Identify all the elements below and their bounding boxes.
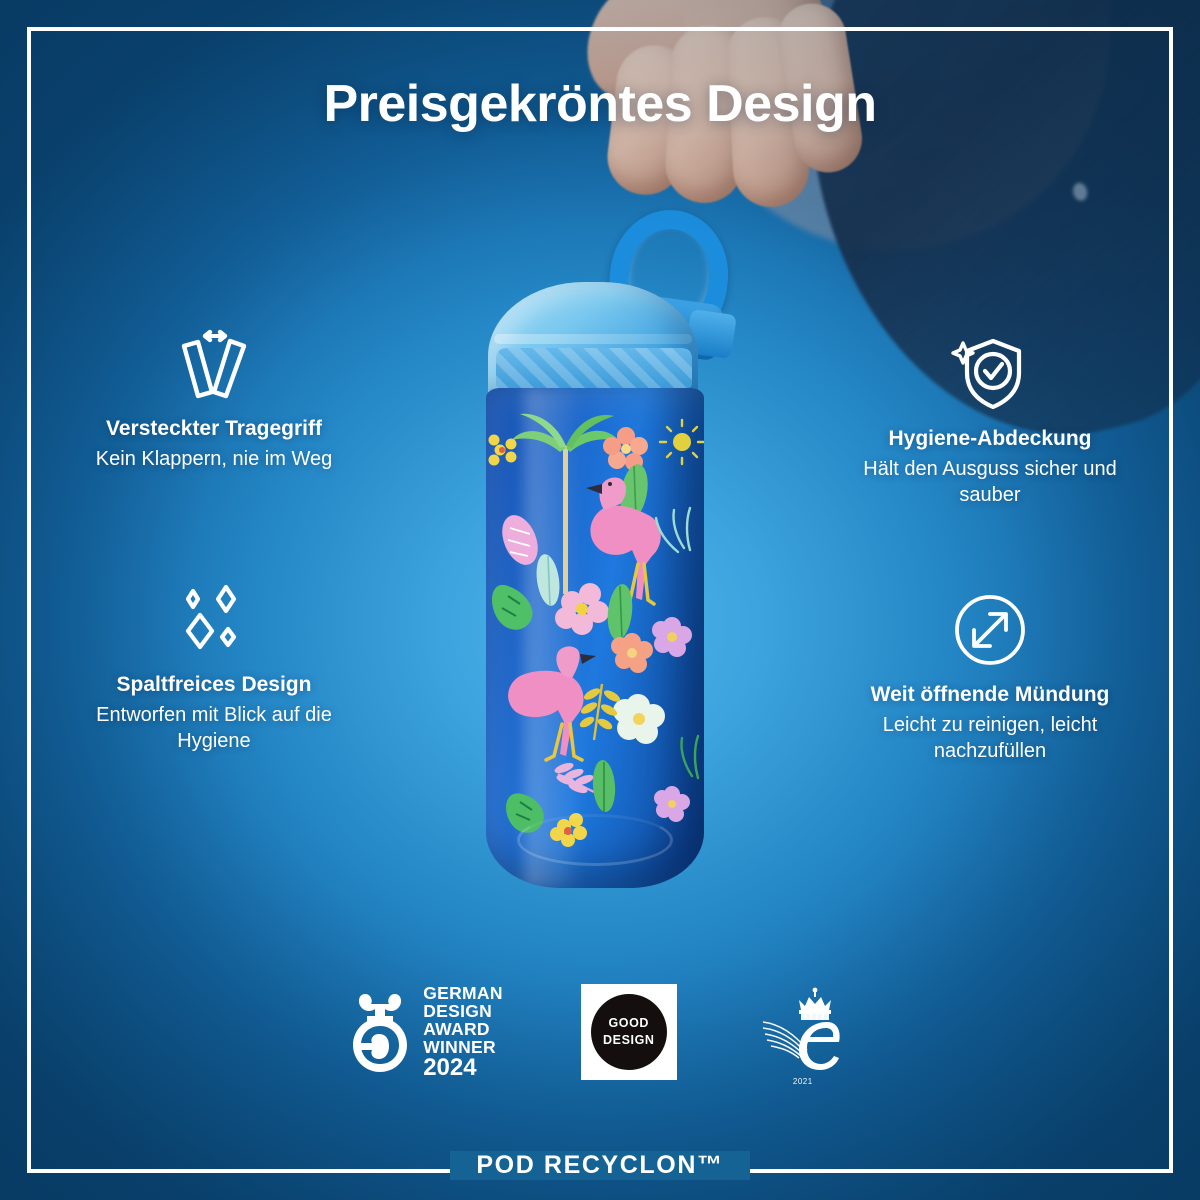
queens-award-year: 2021	[755, 1077, 851, 1086]
german-design-award-mark	[349, 992, 411, 1072]
sparkles-icon	[64, 578, 364, 662]
good-design-circle: GOOD DESIGN	[591, 994, 667, 1070]
expand-arrows-circle-icon	[840, 588, 1140, 672]
good-design-badge: GOOD DESIGN	[581, 984, 677, 1080]
feature-wide-opening: Weit öffnende Mündung Leicht zu reinigen…	[840, 588, 1140, 765]
feature-title: Spaltfreices Design	[64, 672, 364, 698]
page-title: Preisgekröntes Design	[0, 74, 1200, 134]
shield-check-icon	[840, 332, 1140, 416]
feature-title: Versteckter Tragegriff	[64, 416, 364, 442]
good-design-line-1: GOOD	[608, 1015, 649, 1032]
feature-title: Weit öffnende Mündung	[840, 682, 1140, 708]
feature-description: Entworfen mit Blick auf die Hygiene	[64, 702, 364, 755]
feature-description: Kein Klappern, nie im Weg	[64, 446, 364, 472]
feature-title: Hygiene-Abdeckung	[840, 426, 1140, 452]
feature-description: Leicht zu reinigen, leicht nachzufüllen	[840, 712, 1140, 765]
gda-line-4: WINNER	[423, 1038, 503, 1056]
feature-description: Hält den Ausguss sicher und sauber	[840, 456, 1140, 509]
good-design-line-2: DESIGN	[603, 1032, 655, 1049]
footer: POD RECYCLON™	[0, 1151, 1200, 1180]
feature-seamless-design: Spaltfreices Design Entworfen mit Blick …	[64, 578, 364, 755]
gda-year: 2024	[423, 1056, 503, 1081]
feature-hygiene-cover: Hygiene-Abdeckung Hält den Ausguss siche…	[840, 332, 1140, 509]
gda-line-1: GERMAN	[423, 984, 503, 1002]
gda-line-3: AWARD	[423, 1020, 503, 1038]
award-badges: GERMAN DESIGN AWARD WINNER 2024 GOOD DES…	[0, 980, 1200, 1084]
feature-hidden-carry-handle: Versteckter Tragegriff Kein Klappern, ni…	[64, 322, 364, 472]
queens-award-emblem	[755, 980, 851, 1076]
german-design-award-badge: GERMAN DESIGN AWARD WINNER 2024	[349, 984, 503, 1081]
hidden-carry-handle-icon	[64, 322, 364, 406]
german-design-award-text: GERMAN DESIGN AWARD WINNER 2024	[423, 984, 503, 1081]
queens-award-badge: 2021	[755, 980, 851, 1084]
gda-line-2: DESIGN	[423, 1002, 503, 1020]
brand-name: POD RECYCLON™	[450, 1151, 749, 1180]
